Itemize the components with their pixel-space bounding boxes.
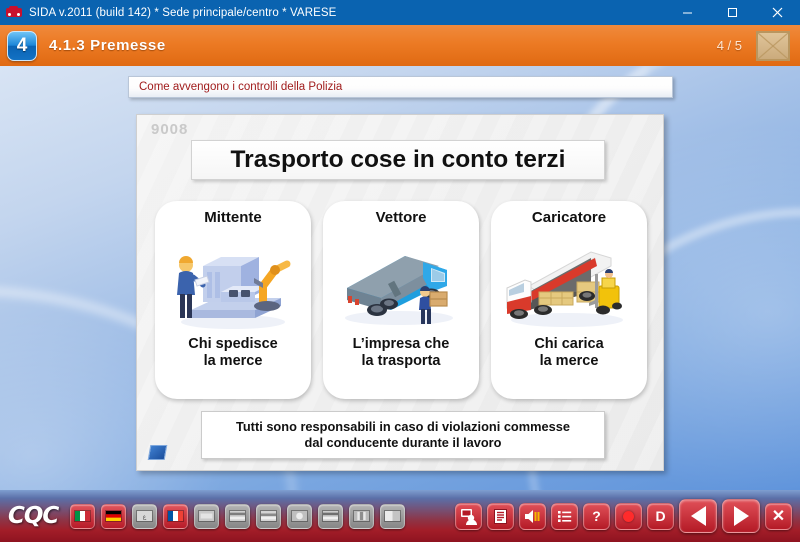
slide-title: Trasporto cose in conto terzi [191, 140, 605, 180]
card-caricatore[interactable]: Caricatore [491, 201, 647, 399]
flag-arabic-button[interactable]: ع [132, 504, 157, 529]
bottom-toolbar: CQC ع [0, 490, 800, 542]
flag-italy-icon [74, 510, 91, 522]
card-title: Mittente [204, 209, 262, 226]
record-icon [623, 511, 634, 522]
chevron-right-icon [734, 506, 749, 526]
application-window: SIDA v.2011 (build 142) * Sede principal… [0, 0, 800, 542]
previous-button[interactable] [679, 499, 717, 533]
action-buttons: ? D ✕ [455, 499, 792, 533]
flag-france-icon [167, 510, 184, 522]
close-icon: ✕ [772, 506, 785, 526]
flag-blank-2-button[interactable] [225, 504, 250, 529]
exit-button[interactable]: ✕ [765, 503, 792, 530]
page-title: 4.1.3 Premesse [49, 37, 717, 54]
flag-italy-button[interactable] [70, 504, 95, 529]
flag-blank-3-icon [260, 510, 277, 522]
footnote-line2: dal conducente durante il lavoro [305, 435, 502, 451]
flag-blank-2-icon [229, 510, 246, 522]
audio-icon-button[interactable] [519, 503, 546, 530]
flag-blank-4-button[interactable] [287, 504, 312, 529]
footnote-line1: Tutti sono responsabili in caso di viola… [236, 419, 570, 435]
flag-germany-icon [105, 510, 122, 522]
flag-blank-7-icon [384, 510, 401, 522]
close-button[interactable] [755, 0, 800, 25]
card-desc-line1: Chi carica [534, 336, 603, 352]
blue-truck-courier-illustration [331, 230, 471, 334]
flag-blank-5-button[interactable] [318, 504, 343, 529]
window-controls [665, 0, 800, 25]
card-desc-line2: la merce [204, 353, 263, 369]
factory-robot-worker-illustration [163, 230, 303, 334]
flag-blank-6-icon [353, 510, 370, 522]
slide-footnote: Tutti sono responsabili in caso di viola… [201, 411, 605, 459]
chapter-badge: 4 [7, 31, 37, 61]
help-icon-button[interactable]: ? [583, 503, 610, 530]
chevron-left-icon [691, 506, 706, 526]
card-title: Caricatore [532, 209, 606, 226]
next-button[interactable] [722, 499, 760, 533]
list-icon-button[interactable] [551, 503, 578, 530]
question-banner: Come avvengono i controlli della Polizia [128, 76, 673, 98]
question-text: Come avvengono i controlli della Polizia [139, 81, 342, 93]
card-desc-line1: Chi spedisce [188, 336, 277, 352]
card-desc-line1: L’impresa che [353, 336, 450, 352]
help-icon: ? [592, 508, 601, 524]
card-desc-line2: la trasporta [362, 353, 441, 369]
slide-panel: 9008 Trasporto cose in conto terzi Mitte… [136, 114, 664, 471]
window-title: SIDA v.2011 (build 142) * Sede principal… [29, 7, 665, 19]
language-buttons: ع [70, 504, 405, 529]
flag-blank-1-icon [198, 510, 215, 522]
sida-logo-icon [148, 445, 168, 460]
slide-id: 9008 [151, 121, 188, 138]
card-mittente[interactable]: Mittente [155, 201, 311, 399]
card-description: L’impresa che la trasporta [353, 336, 450, 370]
flag-blank-4-icon [291, 510, 308, 522]
cqc-logo: CQC [8, 503, 58, 529]
list-icon [557, 509, 572, 524]
card-description: Chi carica la merce [534, 336, 603, 370]
minimize-button[interactable] [665, 0, 710, 25]
flag-blank-3-button[interactable] [256, 504, 281, 529]
flag-germany-button[interactable] [101, 504, 126, 529]
document-icon [493, 509, 508, 524]
presenter-icon [460, 508, 477, 525]
dictionary-icon-button[interactable]: D [647, 503, 674, 530]
concept-cards: Mittente [155, 201, 647, 399]
flag-blank-6-button[interactable] [349, 504, 374, 529]
car-icon [6, 5, 22, 21]
lesson-header: 4 4.1.3 Premesse 4 / 5 [0, 25, 800, 66]
window-title-bar: SIDA v.2011 (build 142) * Sede principal… [0, 0, 800, 25]
truck-forklift-loading-illustration [499, 230, 639, 334]
flag-blank-7-button[interactable] [380, 504, 405, 529]
flag-france-button[interactable] [163, 504, 188, 529]
record-icon-button[interactable] [615, 503, 642, 530]
page-indicator: 4 / 5 [717, 38, 742, 53]
maximize-button[interactable] [710, 0, 755, 25]
svg-text:ع: ع [143, 515, 147, 521]
flag-arabic-icon: ع [136, 510, 153, 522]
document-icon-button[interactable] [487, 503, 514, 530]
card-title: Vettore [376, 209, 427, 226]
card-vettore[interactable]: Vettore [323, 201, 479, 399]
audio-icon [524, 509, 541, 524]
crate-icon[interactable] [756, 31, 790, 61]
dictionary-icon: D [655, 508, 665, 524]
presenter-icon-button[interactable] [455, 503, 482, 530]
card-desc-line2: la merce [540, 353, 599, 369]
flag-blank-5-icon [322, 510, 339, 522]
card-description: Chi spedisce la merce [188, 336, 277, 370]
flag-blank-1-button[interactable] [194, 504, 219, 529]
